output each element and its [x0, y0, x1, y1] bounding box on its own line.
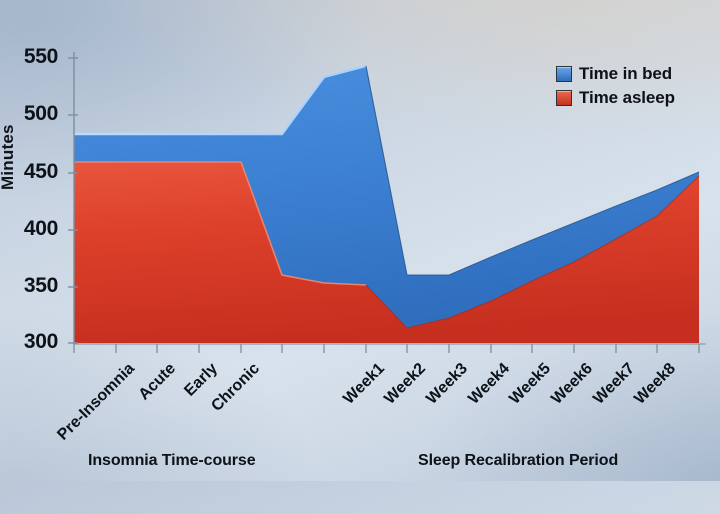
y-tick-label-500: 500 [0, 102, 58, 126]
y-tick-label-400: 400 [0, 217, 58, 241]
legend-label-time-asleep: Time asleep [579, 88, 675, 108]
y-tick-label-300: 300 [0, 330, 58, 354]
chart-plot-area: Minutes 550500450400350300 Pre-InsomniaA… [0, 0, 720, 481]
y-tick-label-550: 550 [0, 45, 58, 69]
legend-swatch-red [556, 90, 572, 106]
x-axis-ticks [74, 344, 699, 353]
y-tick-label-450: 450 [0, 160, 58, 184]
legend-item-time-asleep[interactable]: Time asleep [556, 86, 675, 110]
y-tick-label-350: 350 [0, 274, 58, 298]
section-title-insomnia: Insomnia Time-course [88, 452, 256, 470]
legend-label-time-in-bed: Time in bed [579, 64, 672, 84]
legend-swatch-blue [556, 66, 572, 82]
legend-item-time-in-bed[interactable]: Time in bed [556, 62, 675, 86]
chart-legend: Time in bed Time asleep [556, 62, 675, 110]
section-title-recalibration: Sleep Recalibration Period [418, 452, 618, 470]
